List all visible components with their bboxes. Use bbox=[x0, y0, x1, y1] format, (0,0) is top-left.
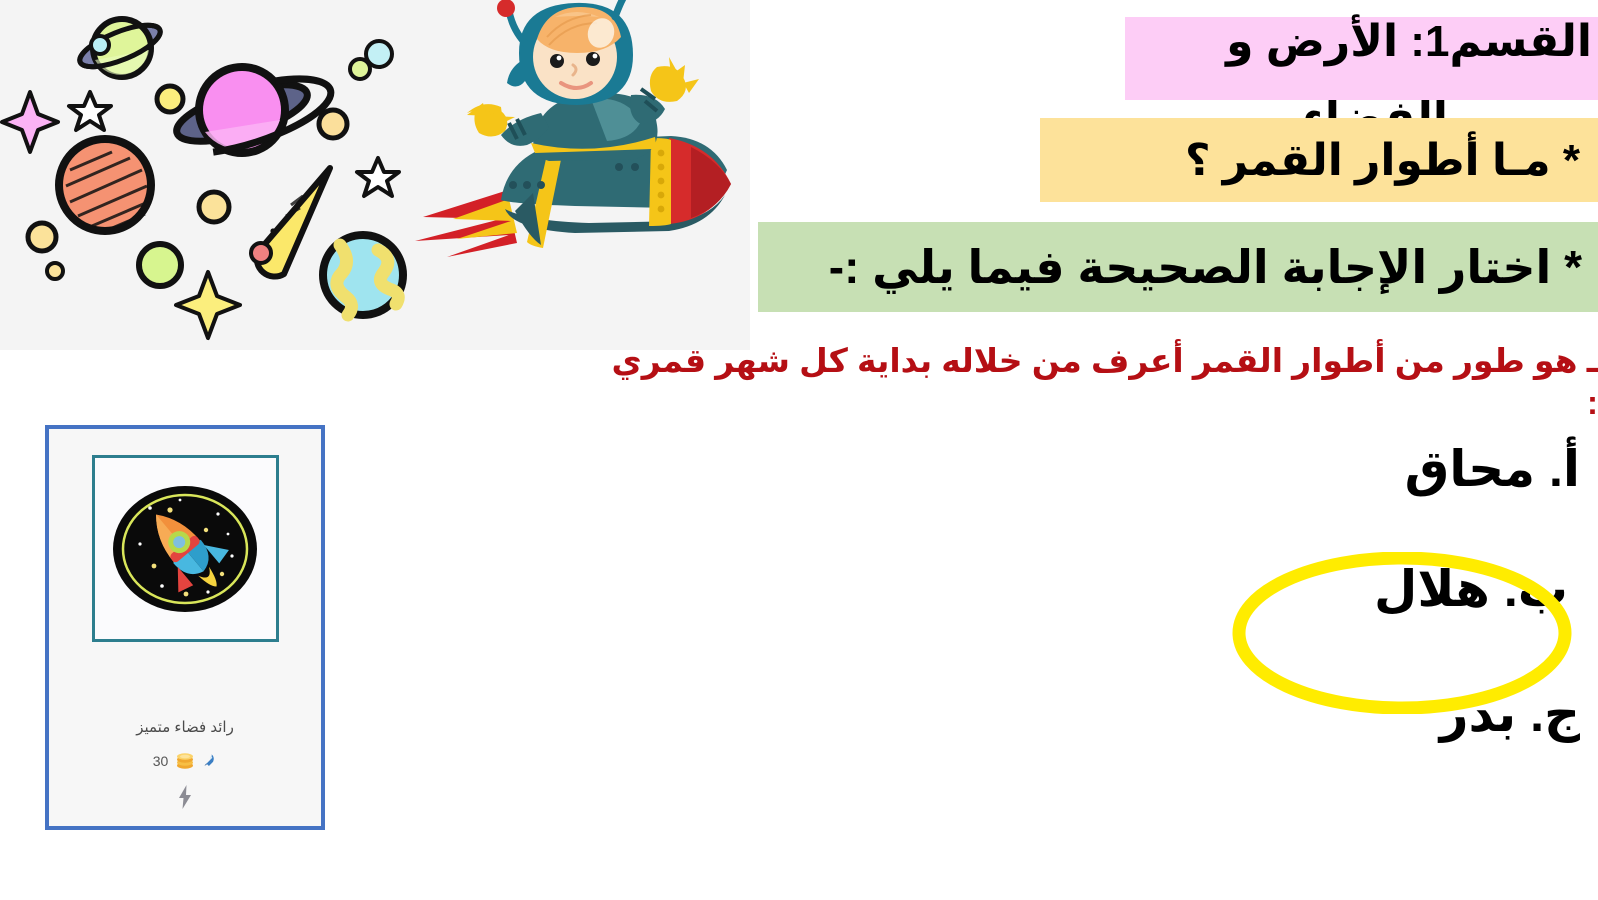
lightning-bolt-wrapper bbox=[176, 784, 194, 815]
section-title-text: القسم1: الأرض و bbox=[1226, 19, 1592, 65]
section-title-line2-text: الفضاء bbox=[1125, 100, 1448, 120]
badge-frame bbox=[92, 455, 279, 642]
question-prompt: ـ هو طور من أطوار القمر أعرف من خلاله بد… bbox=[600, 340, 1598, 424]
answer-option-a[interactable]: أ. محاق bbox=[1405, 440, 1580, 498]
question-text: * مـا أطوار القمر ؟ bbox=[1185, 135, 1580, 186]
instruction-text: * اختار الإجابة الصحيحة فيما يلي :- bbox=[829, 240, 1582, 294]
rocket-badge-icon bbox=[110, 474, 260, 624]
coins-icon bbox=[175, 752, 195, 770]
section-title-clipped-line: الفضاء bbox=[1125, 100, 1598, 120]
banner-instruction: * اختار الإجابة الصحيحة فيما يلي :- bbox=[758, 222, 1598, 312]
rocket-icon bbox=[202, 753, 217, 769]
answer-option-c[interactable]: ج. بدر bbox=[1440, 685, 1580, 743]
space-planets-illustration bbox=[0, 0, 420, 350]
lightning-bolt-icon bbox=[176, 784, 194, 810]
illustration-panel bbox=[0, 0, 750, 350]
banner-section-title: القسم1: الأرض و bbox=[1125, 17, 1598, 100]
answer-option-b[interactable]: ب. هلال bbox=[1374, 560, 1568, 618]
coins-count: 30 bbox=[153, 753, 169, 769]
banner-question: * مـا أطوار القمر ؟ bbox=[1040, 118, 1598, 202]
astronaut-on-rocket-illustration bbox=[405, 0, 760, 295]
slide-canvas: القسم1: الأرض و الفضاء * مـا أطوار القمر… bbox=[0, 0, 1598, 900]
reward-card-stats: 30 bbox=[153, 752, 218, 770]
reward-card-title: رائد فضاء متميز bbox=[136, 718, 234, 736]
reward-card[interactable]: رائد فضاء متميز 30 bbox=[45, 425, 325, 830]
